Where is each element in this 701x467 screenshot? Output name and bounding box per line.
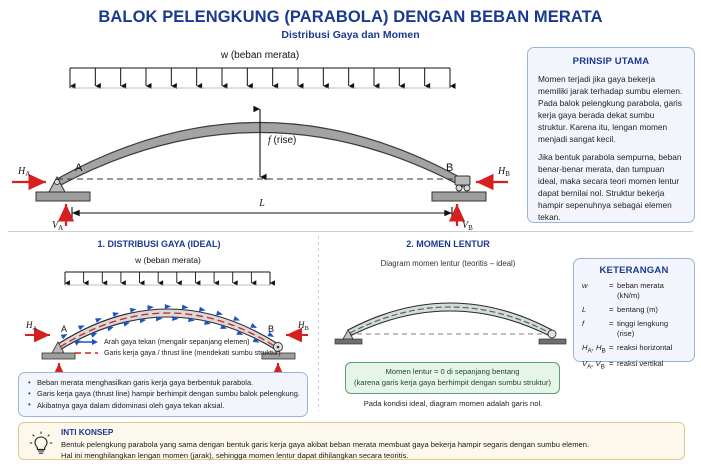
s1-node-a: A xyxy=(61,324,67,334)
s1-legend-rows: Arah gaya tekan (mengalir sepanjang elem… xyxy=(75,338,281,357)
rise-label: f (rise) xyxy=(268,135,296,146)
inti-line-1: Bentuk pelengkung parabola yang sama den… xyxy=(61,439,676,450)
s1-legend-label-0: Arah gaya tekan (mengalir sepanjang elem… xyxy=(104,338,250,346)
prinsip-paragraph-1: Momen terjadi jika gaya bekerja memiliki… xyxy=(538,73,684,145)
support-b-roller xyxy=(432,176,486,201)
keterangan-txt-4: reaksi vertikal xyxy=(617,359,686,372)
keterangan-txt-1: bentang (m) xyxy=(617,305,686,315)
keterangan-txt-3: reaksi horizontal xyxy=(617,343,686,356)
s1-node-b: B xyxy=(268,324,274,334)
s1-bullet-2: Akibatnya gaya dalam didominasi oleh gay… xyxy=(37,400,301,411)
greenbox-line-1: Momen lentur = 0 di sepanjang bentang xyxy=(385,367,519,378)
s1-legend-label-1: Garis kerja gaya / thrust line (mendekat… xyxy=(104,349,281,357)
keterangan-sym-1: L xyxy=(582,305,609,315)
keterangan-row-4: VA, VB = reaksi vertikal xyxy=(582,359,686,372)
s1-label-HA: HA xyxy=(25,320,38,332)
keterangan-sym-2: f xyxy=(582,319,609,340)
red-dashed-line-icon xyxy=(75,349,99,357)
keterangan-eq-1: = xyxy=(609,305,617,315)
section2-subtitle: Diagram momen lentur (teoritis – ideal) xyxy=(318,259,578,268)
keterangan-txt-0: beban merata (kN/m) xyxy=(617,281,686,302)
keterangan-row-1: L = bentang (m) xyxy=(582,305,686,315)
section2-title: 2. MOMEN LENTUR xyxy=(318,239,578,249)
horizontal-divider xyxy=(8,231,693,232)
keterangan-sym-4: VA, VB xyxy=(582,359,609,372)
s1-uniform-load xyxy=(65,272,270,285)
keterangan-row-2: f = tinggi lengkung (rise) xyxy=(582,319,686,340)
compression-arrow xyxy=(165,304,171,309)
main-load-label: w (beban merata) xyxy=(220,50,299,61)
s1-bullet-0: Beban merata menghasilkan garis kerja ga… xyxy=(37,377,301,388)
inti-line-2: Hal ini menghilangkan lengan momen (jara… xyxy=(61,450,676,461)
diagram-page: BALOK PELENGKUNG (PARABOLA) DENGAN BEBAN… xyxy=(0,0,701,467)
label-node-b: B xyxy=(446,162,453,174)
label-HB: HB xyxy=(497,166,510,178)
section2-green-box: Momen lentur = 0 di sepanjang bentang (k… xyxy=(345,362,560,394)
inti-konsep-panel: INTI KONSEP Bentuk pelengkung parabola y… xyxy=(18,422,685,460)
keterangan-sym-3: HA, HB xyxy=(582,343,609,356)
greenbox-line-2: (karena garis kerja gaya berhimpit denga… xyxy=(354,378,551,389)
section2-footer: Pada kondisi ideal, diagram momen adalah… xyxy=(318,399,588,408)
lightbulb-icon xyxy=(29,431,53,457)
uniform-load-arrows xyxy=(70,68,450,88)
s1-label-HB: HB xyxy=(297,320,310,332)
s1-legend-row-1: Garis kerja gaya / thrust line (mendekat… xyxy=(75,349,281,357)
span-label: L xyxy=(258,198,265,209)
s1-load-label: w (beban merata) xyxy=(134,255,201,265)
section1-title: 1. DISTRIBUSI GAYA (IDEAL) xyxy=(0,239,318,249)
prinsip-paragraph-2: Jika bentuk parabola sempurna, beban ben… xyxy=(538,151,684,223)
s1-legend-row-0: Arah gaya tekan (mengalir sepanjang elem… xyxy=(75,338,281,346)
keterangan-sym-0: w xyxy=(582,281,609,302)
keterangan-row-0: w = beban merata (kN/m) xyxy=(582,281,686,302)
section2-moment-diagram xyxy=(330,268,570,353)
keterangan-title: KETERANGAN xyxy=(582,265,686,276)
label-node-a: A xyxy=(75,162,83,174)
keterangan-txt-2: tinggi lengkung (rise) xyxy=(617,319,686,340)
s1-bullet-1: Garis kerja gaya (thrust line) hampir be… xyxy=(37,388,301,399)
main-arch-diagram: w (beban merata) f (rise) L xyxy=(0,46,520,231)
section1-bullets-panel: Beban merata menghasilkan garis kerja ga… xyxy=(18,372,308,417)
keterangan-eq-2: = xyxy=(609,319,617,340)
page-title: BALOK PELENGKUNG (PARABOLA) DENGAN BEBAN… xyxy=(0,8,701,27)
page-subtitle: Distribusi Gaya dan Momen xyxy=(0,29,701,41)
keterangan-eq-4: = xyxy=(609,359,617,372)
keterangan-eq-0: = xyxy=(609,281,617,302)
keterangan-panel: KETERANGAN w = beban merata (kN/m) L = b… xyxy=(573,258,695,362)
blue-arrow-icon xyxy=(75,338,99,346)
prinsip-utama-panel: PRINSIP UTAMA Momen terjadi jika gaya be… xyxy=(527,47,695,223)
prinsip-title: PRINSIP UTAMA xyxy=(538,56,684,67)
keterangan-eq-3: = xyxy=(609,343,617,356)
inti-title: INTI KONSEP xyxy=(61,428,676,437)
keterangan-row-3: HA, HB = reaksi horizontal xyxy=(582,343,686,356)
label-HA: HA xyxy=(17,166,30,178)
